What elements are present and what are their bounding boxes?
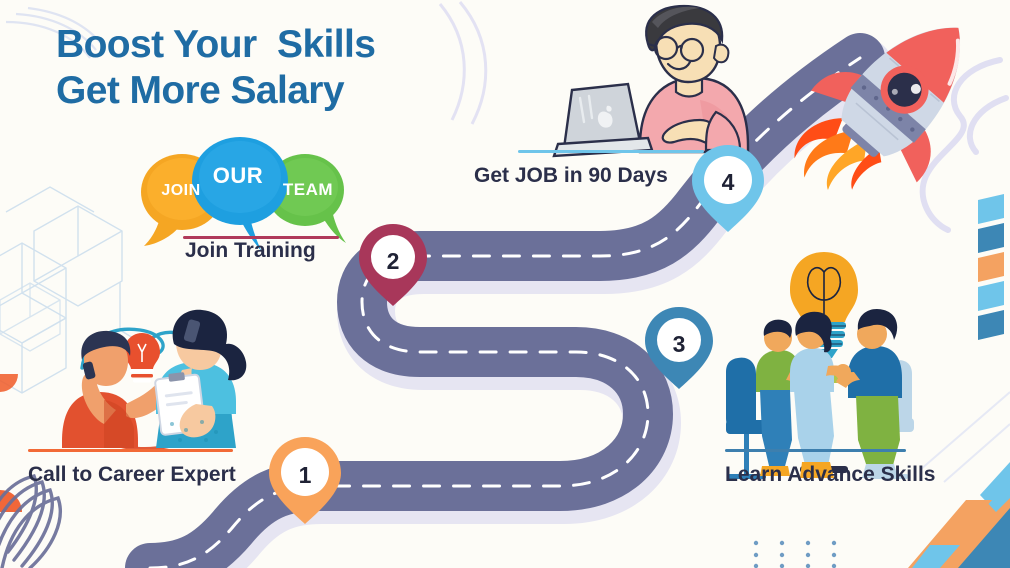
rocket-nose [886, 3, 987, 103]
marker-number-1: 1 [288, 462, 322, 489]
scribble-decoration [0, 476, 60, 568]
step-label-text-1: Call to Career Expert [28, 463, 236, 487]
laptop-icon [554, 84, 652, 156]
rocket-trail-ribbon [923, 60, 1006, 230]
rocket-porthole-glass [881, 66, 929, 114]
marker-number-3: 3 [662, 331, 696, 358]
road-surface [150, 58, 860, 568]
step-label-call-to-career-expert: Call to Career Expert [28, 449, 236, 487]
rocket-fin-left [811, 56, 870, 116]
person-orange-phone [62, 331, 187, 448]
page-title: Boost Your SkillsGet More Salary [56, 22, 375, 114]
ribbon-lines-top [440, 2, 486, 124]
orange-arc-decoration [0, 490, 22, 512]
step-rule-3 [725, 449, 906, 452]
road-center-dashes [150, 58, 860, 568]
step-label-text-2: Join Training [185, 239, 316, 263]
rocket-fin-right [888, 123, 947, 183]
rocket-body [831, 0, 990, 165]
rocket-band [851, 74, 926, 143]
dot-grid-decoration [754, 541, 836, 568]
isometric-cube-pattern-2 [0, 283, 60, 351]
orange-arc-decoration-2 [0, 374, 18, 392]
headline-line-2: Get More Salary [56, 68, 375, 114]
step-label-learn-advance-skills: Learn Advance Skills [725, 449, 935, 487]
step-label-text-3: Learn Advance Skills [725, 463, 935, 487]
step-label-get-job-in-90-days: Get JOB in 90 Days [474, 150, 704, 188]
step-label-text-4: Get JOB in 90 Days [474, 164, 704, 188]
lightbulb-large-icon [790, 252, 858, 358]
stacked-bars-decoration [978, 194, 1004, 340]
lightbulb-small-icon [124, 333, 160, 383]
bubble-label-our: OUR [200, 163, 276, 189]
marker-number-2: 2 [376, 248, 410, 275]
infographic-canvas: Boost Your SkillsGet More Salary JOIN OU… [0, 0, 1010, 568]
step-rule-4 [518, 150, 704, 153]
marker-number-4: 4 [711, 169, 745, 196]
step-label-join-training: Join Training [185, 239, 316, 263]
step-rule-1 [28, 449, 233, 452]
road-shadow [154, 67, 864, 568]
rocket-porthole-ring [871, 56, 939, 124]
person-teal-tablet [154, 310, 246, 448]
hand [663, 120, 719, 144]
headline-line-1: Boost Your Skills [56, 23, 375, 66]
head [656, 14, 720, 82]
isometric-cube-pattern [0, 187, 156, 393]
rocket-flames [782, 104, 887, 209]
glasses-icon [648, 37, 703, 61]
bubble-label-team: TEAM [274, 180, 342, 200]
sweater [640, 78, 748, 152]
hair [646, 6, 722, 50]
